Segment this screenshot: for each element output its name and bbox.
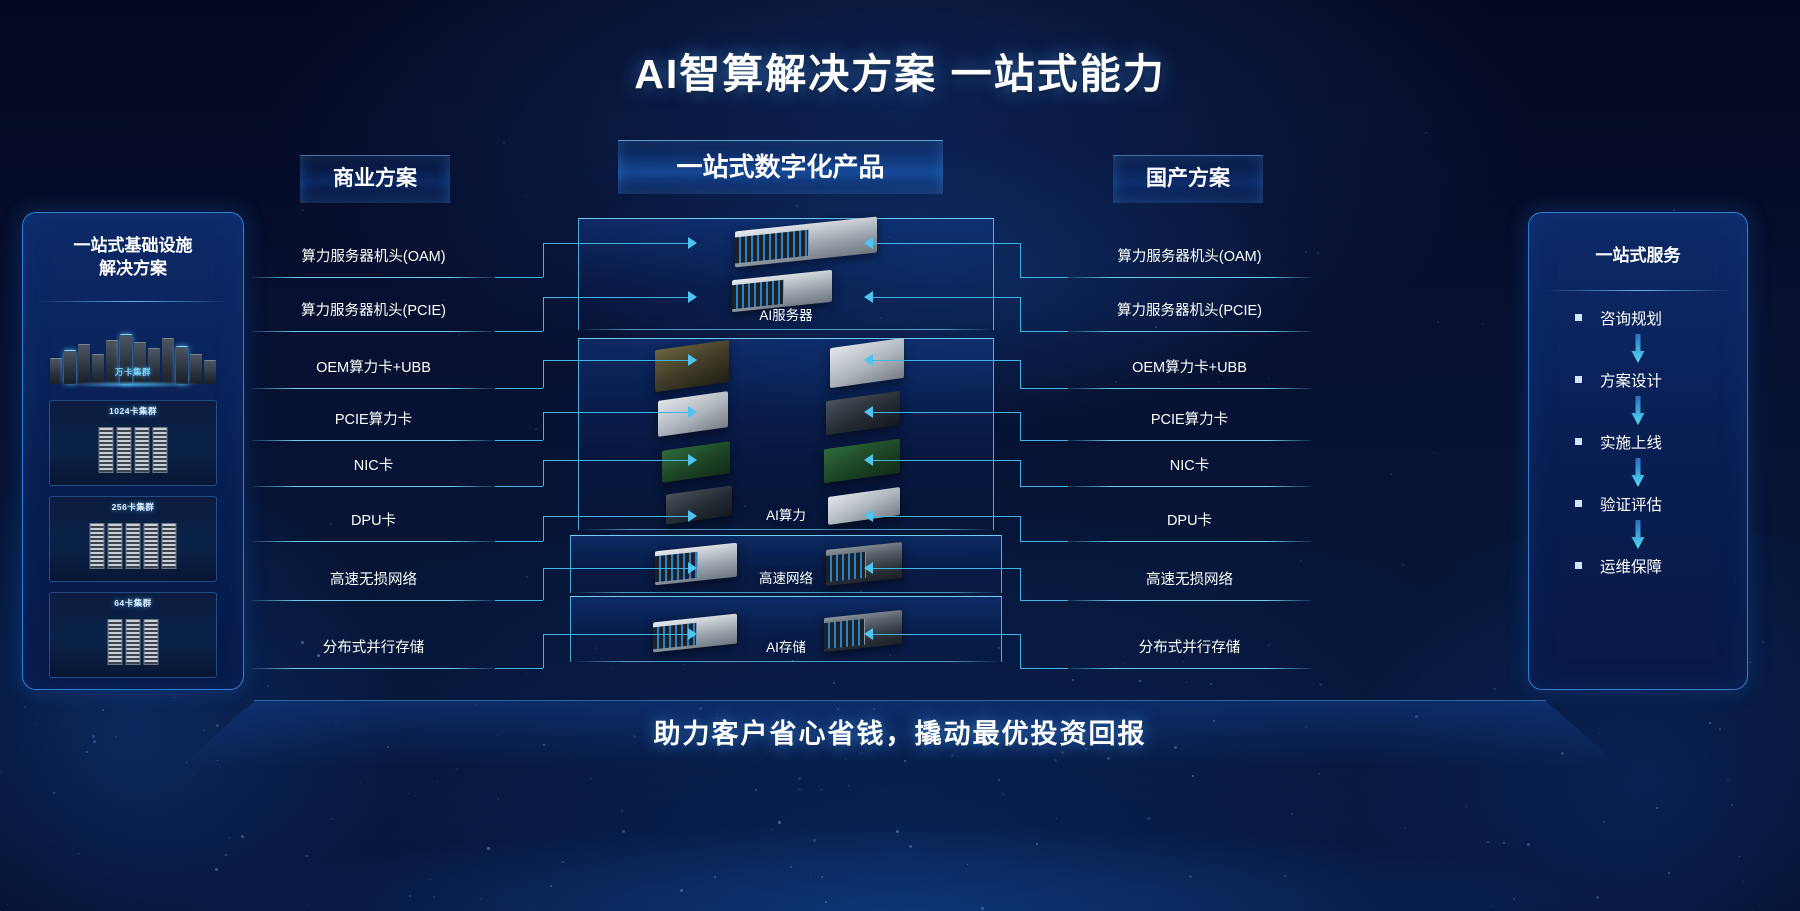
- commercial-connector-v: [543, 516, 544, 541]
- particle: [1402, 564, 1404, 566]
- bullet-icon: [1575, 438, 1582, 445]
- commercial-row-label[interactable]: 高速无损网络: [252, 568, 495, 589]
- row-underline: [252, 541, 495, 542]
- rack-unit: [78, 344, 90, 384]
- domestic-connector-h: [1020, 440, 1068, 441]
- commercial-connector-v: [543, 568, 544, 600]
- domestic-row-label[interactable]: 分布式并行存储: [1068, 636, 1311, 657]
- particle: [1437, 321, 1439, 323]
- service-step-label: 实施上线: [1600, 431, 1662, 453]
- service-step-item[interactable]: 实施上线: [1529, 431, 1747, 453]
- row-underline: [1068, 440, 1311, 441]
- column-header-center: 一站式数字化产品: [618, 140, 943, 194]
- row-underline: [252, 486, 495, 487]
- commercial-connector-h2: [543, 243, 688, 244]
- domestic-row-label[interactable]: NIC卡: [1068, 454, 1311, 475]
- arrow-right-icon: [688, 237, 697, 249]
- down-arrow-icon: [1529, 329, 1747, 369]
- domestic-connector-v: [1020, 243, 1021, 277]
- row-underline: [252, 388, 495, 389]
- particle: [1317, 252, 1319, 254]
- particle: [1210, 683, 1212, 685]
- particle: [86, 751, 88, 753]
- service-step-list: 咨询规划方案设计实施上线验证评估运维保障: [1529, 291, 1747, 577]
- service-step-item[interactable]: 运维保障: [1529, 555, 1747, 577]
- domestic-connector-h2: [873, 297, 1020, 298]
- floor-glow: [66, 381, 200, 388]
- service-panel[interactable]: 一站式服务 咨询规划方案设计实施上线验证评估运维保障: [1528, 212, 1748, 690]
- commercial-connector-v: [543, 412, 544, 440]
- row-underline: [252, 331, 495, 332]
- service-step-label: 运维保障: [1600, 555, 1662, 577]
- service-step-label: 咨询规划: [1600, 307, 1662, 329]
- row-underline: [1068, 331, 1311, 332]
- bullet-icon: [1575, 562, 1582, 569]
- commercial-row-label[interactable]: DPU卡: [252, 509, 495, 530]
- bullet-icon: [1575, 376, 1582, 383]
- server-rack-illustration: [90, 523, 177, 569]
- particle: [525, 195, 527, 197]
- particle: [796, 205, 798, 207]
- row-underline: [252, 440, 495, 441]
- service-step-label: 方案设计: [1600, 369, 1662, 391]
- service-step-item[interactable]: 咨询规划: [1529, 307, 1747, 329]
- particle: [1268, 377, 1270, 379]
- particle: [267, 685, 269, 687]
- group-label-ai-storage: AI存储: [571, 636, 1001, 656]
- arrow-left-icon: [864, 454, 873, 466]
- infrastructure-title-line1: 一站式基础设施: [31, 235, 235, 258]
- particle: [458, 334, 460, 336]
- arrow-right-icon: [688, 291, 697, 303]
- particle: [1139, 680, 1141, 682]
- rack-unit: [153, 427, 168, 473]
- service-panel-title: 一站式服务: [1529, 245, 1747, 268]
- particle: [1186, 682, 1187, 683]
- commercial-connector-v: [543, 297, 544, 331]
- row-underline: [1068, 668, 1311, 669]
- particle: [684, 664, 685, 665]
- commercial-connector-h: [495, 486, 543, 487]
- particle: [1750, 662, 1751, 663]
- infrastructure-title-line2: 解决方案: [31, 258, 235, 281]
- rack-unit: [99, 427, 114, 473]
- group-box-high-speed-network: 高速网络: [570, 535, 1002, 593]
- rack-unit: [90, 523, 105, 569]
- domestic-connector-h: [1020, 486, 1068, 487]
- particle: [1155, 326, 1157, 328]
- domestic-connector-h2: [873, 460, 1020, 461]
- rack-unit: [126, 523, 141, 569]
- column-header-domestic: 国产方案: [1113, 155, 1263, 203]
- particle: [1762, 641, 1764, 643]
- particle: [526, 576, 528, 578]
- commercial-connector-h: [495, 440, 543, 441]
- arrow-left-icon: [864, 354, 873, 366]
- particle: [1673, 209, 1675, 211]
- domestic-row-label[interactable]: 算力服务器机头(PCIE): [1068, 299, 1311, 320]
- column-header-domestic-label: 国产方案: [1113, 155, 1263, 203]
- particle: [1319, 683, 1322, 686]
- particle: [1300, 560, 1302, 562]
- device-ai-server-pcie: [732, 275, 832, 307]
- server-rack-illustration: [99, 427, 168, 473]
- domestic-connector-h: [1020, 277, 1068, 278]
- commercial-row-label[interactable]: 分布式并行存储: [252, 636, 495, 657]
- row-underline: [1068, 388, 1311, 389]
- cluster-thumbnail-list: 万卡集群1024卡集群256卡集群64卡集群: [23, 302, 243, 678]
- domestic-connector-h: [1020, 600, 1068, 601]
- slide-canvas: AI智算解决方案 一站式能力 商业方案 一站式数字化产品 国产方案 一站式基础设…: [0, 0, 1800, 911]
- commercial-connector-h: [495, 277, 543, 278]
- rack-unit: [108, 619, 123, 665]
- service-step-item[interactable]: 验证评估: [1529, 493, 1747, 515]
- commercial-connector-v: [543, 634, 544, 668]
- down-arrow-icon: [1529, 515, 1747, 555]
- particle: [1423, 677, 1424, 678]
- domestic-connector-h2: [873, 243, 1020, 244]
- commercial-connector-h2: [543, 297, 688, 298]
- commercial-connector-h: [495, 388, 543, 389]
- domestic-connector-v: [1020, 412, 1021, 440]
- down-arrow-icon: [1529, 453, 1747, 493]
- cluster-thumbnail[interactable]: 256卡集群: [49, 496, 217, 582]
- commercial-connector-v: [543, 360, 544, 388]
- commercial-connector-v: [543, 460, 544, 486]
- rack-unit: [108, 523, 123, 569]
- cluster-thumbnail[interactable]: 万卡集群: [49, 316, 217, 390]
- down-arrow-icon: [1529, 391, 1747, 431]
- commercial-connector-h: [495, 600, 543, 601]
- column-header-commercial: 商业方案: [300, 155, 450, 203]
- rack-unit: [162, 523, 177, 569]
- domestic-row-label[interactable]: 算力服务器机头(OAM): [1068, 245, 1311, 266]
- row-underline: [252, 668, 495, 669]
- domestic-connector-v: [1020, 568, 1021, 600]
- particle: [1433, 452, 1435, 454]
- cluster-thumbnail-label: 256卡集群: [50, 501, 216, 513]
- particle: [1425, 132, 1427, 134]
- column-header-center-label: 一站式数字化产品: [618, 140, 943, 194]
- particle: [1390, 473, 1392, 475]
- group-box-ai-compute: AI算力: [578, 338, 994, 530]
- cluster-thumbnail-label: 64卡集群: [50, 597, 216, 609]
- domestic-connector-h: [1020, 331, 1068, 332]
- rack-unit: [117, 427, 132, 473]
- domestic-connector-v: [1020, 297, 1021, 331]
- commercial-connector-h: [495, 541, 543, 542]
- domestic-row-label[interactable]: PCIE算力卡: [1068, 408, 1311, 429]
- bottom-banner: 助力客户省心省钱，撬动最优投资回报: [0, 712, 1800, 751]
- domestic-connector-h: [1020, 541, 1068, 542]
- domestic-row-label[interactable]: 高速无损网络: [1068, 568, 1311, 589]
- commercial-row-label[interactable]: 算力服务器机头(OAM): [252, 245, 495, 266]
- column-header-commercial-label: 商业方案: [300, 155, 450, 203]
- particle: [24, 706, 26, 708]
- commercial-row-label[interactable]: 算力服务器机头(PCIE): [252, 299, 495, 320]
- particle: [1123, 663, 1124, 664]
- particle: [833, 682, 835, 684]
- bullet-icon: [1575, 314, 1582, 321]
- infrastructure-panel[interactable]: 一站式基础设施 解决方案 万卡集群1024卡集群256卡集群64卡集群: [22, 212, 244, 690]
- particle: [1494, 688, 1496, 690]
- domestic-connector-h2: [873, 412, 1020, 413]
- particle: [527, 673, 528, 674]
- commercial-connector-h: [495, 668, 543, 669]
- group-label-ai-compute: AI算力: [579, 504, 993, 524]
- domestic-connector-h: [1020, 668, 1068, 669]
- domestic-connector-v: [1020, 360, 1021, 388]
- cluster-thumbnail[interactable]: 64卡集群: [49, 592, 217, 678]
- group-box-ai-storage: AI存储: [570, 596, 1002, 662]
- rack-unit: [176, 346, 188, 384]
- server-rack-illustration: [108, 619, 159, 665]
- particle: [535, 428, 537, 430]
- row-underline: [252, 277, 495, 278]
- particle: [503, 142, 505, 144]
- commercial-connector-v: [543, 243, 544, 277]
- cluster-thumbnail-label: 1024卡集群: [50, 405, 216, 417]
- cluster-thumbnail[interactable]: 1024卡集群: [49, 400, 217, 486]
- service-step-label: 验证评估: [1600, 493, 1662, 515]
- row-underline: [1068, 486, 1311, 487]
- commercial-connector-h2: [543, 412, 688, 413]
- arrow-right-icon: [688, 354, 697, 366]
- domestic-connector-h: [1020, 388, 1068, 389]
- commercial-connector-h2: [543, 460, 688, 461]
- group-label-ai-server: AI服务器: [579, 304, 993, 324]
- commercial-row-label[interactable]: PCIE算力卡: [252, 408, 495, 429]
- particle: [1218, 381, 1220, 383]
- domestic-connector-v: [1020, 516, 1021, 541]
- infrastructure-panel-title: 一站式基础设施 解决方案: [23, 235, 243, 281]
- particle: [1072, 679, 1074, 681]
- commercial-row-label[interactable]: OEM算力卡+UBB: [252, 356, 495, 377]
- arrow-right-icon: [688, 406, 697, 418]
- rack-unit: [144, 523, 159, 569]
- particle: [1115, 381, 1117, 383]
- page-title: AI智算解决方案 一站式能力: [0, 40, 1800, 100]
- particle: [174, 697, 175, 698]
- domestic-connector-v: [1020, 460, 1021, 486]
- particle: [1482, 323, 1484, 325]
- bullet-icon: [1575, 500, 1582, 507]
- group-label-high-speed-network: 高速网络: [571, 567, 1001, 587]
- domestic-connector-h2: [873, 360, 1020, 361]
- arrow-left-icon: [864, 237, 873, 249]
- device-ai-server-oam: [735, 224, 877, 260]
- domestic-row-label[interactable]: DPU卡: [1068, 509, 1311, 530]
- arrow-right-icon: [688, 454, 697, 466]
- row-underline: [1068, 277, 1311, 278]
- particle: [1183, 661, 1184, 662]
- arrow-left-icon: [864, 291, 873, 303]
- commercial-connector-h2: [543, 360, 688, 361]
- row-underline: [1068, 541, 1311, 542]
- domestic-connector-v: [1020, 634, 1021, 668]
- cluster-thumbnail-label: 万卡集群: [49, 366, 217, 378]
- domestic-row-label[interactable]: OEM算力卡+UBB: [1068, 356, 1311, 377]
- arrow-left-icon: [864, 406, 873, 418]
- commercial-connector-h: [495, 331, 543, 332]
- background-bottom-wave: [0, 761, 1800, 911]
- rack-unit: [135, 427, 150, 473]
- service-step-item[interactable]: 方案设计: [1529, 369, 1747, 391]
- particle: [302, 209, 304, 211]
- commercial-row-label[interactable]: NIC卡: [252, 454, 495, 475]
- rack-unit: [126, 619, 141, 665]
- row-underline: [252, 600, 495, 601]
- particle: [245, 700, 246, 701]
- particle: [612, 668, 613, 669]
- rack-unit: [144, 619, 159, 665]
- row-underline: [1068, 600, 1311, 601]
